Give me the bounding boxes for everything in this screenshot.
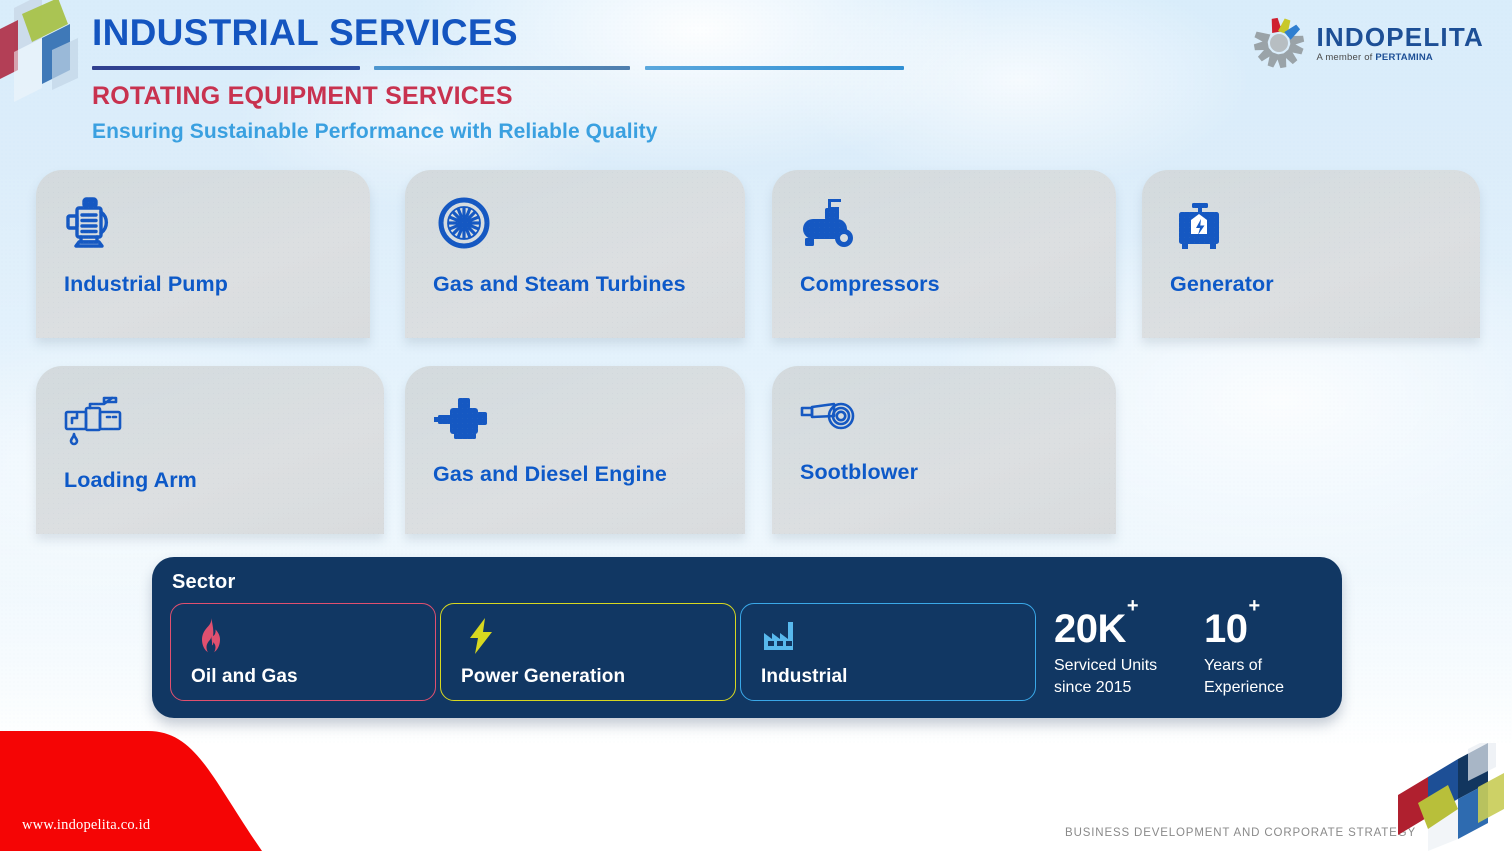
bolt-icon [461, 616, 501, 656]
stat-plus: + [1127, 595, 1138, 617]
header-rule-2 [374, 66, 630, 70]
turbine-icon [432, 194, 496, 256]
sector-item-power-generation[interactable]: Power Generation [440, 603, 736, 701]
engine-icon [432, 390, 496, 452]
stat-years-experience: 10+ Years of Experience [1204, 610, 1324, 698]
sector-item-oil-and-gas[interactable]: Oil and Gas [170, 603, 436, 701]
service-card-label: Gas and Diesel Engine [433, 462, 667, 487]
service-card-compressors[interactable]: Compressors [772, 170, 1116, 338]
service-card-label: Generator [1170, 272, 1274, 297]
factory-icon [761, 616, 801, 656]
sootblower-icon [799, 390, 863, 452]
slide-root: INDUSTRIAL SERVICES ROTATING EQUIPMENT S… [0, 0, 1512, 851]
brand-member-text: A member of PERTAMINA [1316, 53, 1484, 63]
page-title: INDUSTRIAL SERVICES [92, 14, 1092, 53]
page-tagline: Ensuring Sustainable Performance with Re… [92, 120, 658, 144]
header-rules [92, 66, 922, 72]
service-card-generator[interactable]: Generator [1142, 170, 1480, 338]
stat-caption: Years of Experience [1204, 655, 1324, 698]
service-card-loading-arm[interactable]: Loading Arm [36, 366, 384, 534]
sector-panel-title: Sector [172, 571, 235, 594]
stat-caption-line2: since 2015 [1054, 677, 1174, 699]
header-rule-1 [92, 66, 360, 70]
brand-member-prefix: A member of [1316, 52, 1375, 63]
brand-name: INDOPELITA [1316, 24, 1484, 50]
stat-caption-line1: Years of [1204, 655, 1324, 677]
stat-value: 10 [1204, 607, 1248, 651]
pump-icon [63, 194, 127, 256]
brand-member-company: PERTAMINA [1375, 52, 1433, 63]
service-card-label: Compressors [800, 272, 940, 297]
header-rule-3 [645, 66, 904, 70]
stat-number: 20K+ [1054, 610, 1137, 648]
sector-item-industrial[interactable]: Industrial [740, 603, 1036, 701]
service-card-sootblower[interactable]: Sootblower [772, 366, 1116, 534]
stat-serviced-units: 20K+ Serviced Units since 2015 [1054, 610, 1174, 698]
sector-panel: Sector Oil and Gas Power Generation [152, 557, 1342, 718]
service-card-label: Gas and Steam Turbines [433, 272, 686, 297]
generator-icon [1169, 194, 1233, 256]
stat-value: 20K [1054, 607, 1126, 651]
stat-caption-line2: Experience [1204, 677, 1324, 699]
stat-caption: Serviced Units since 2015 [1054, 655, 1174, 698]
sector-item-label: Industrial [761, 666, 848, 688]
stat-number: 10+ [1204, 610, 1259, 648]
service-card-gas-diesel-engine[interactable]: Gas and Diesel Engine [405, 366, 745, 534]
service-card-gas-steam-turbines[interactable]: Gas and Steam Turbines [405, 170, 745, 338]
flame-icon [191, 616, 231, 656]
loading-arm-icon [63, 390, 127, 452]
service-card-label: Industrial Pump [64, 272, 228, 297]
sector-item-label: Oil and Gas [191, 666, 298, 688]
service-card-label: Loading Arm [64, 468, 197, 493]
corner-geometric-mark [0, 0, 96, 106]
compressor-icon [799, 194, 863, 256]
stat-caption-line1: Serviced Units [1054, 655, 1174, 677]
page-subtitle: ROTATING EQUIPMENT SERVICES [92, 82, 513, 111]
sector-item-label: Power Generation [461, 666, 625, 688]
website-url[interactable]: www.indopelita.co.id [22, 817, 150, 834]
stat-plus: + [1249, 595, 1260, 617]
footer-geometric-mark [1384, 743, 1504, 851]
department-label: BUSINESS DEVELOPMENT AND CORPORATE STRAT… [1065, 827, 1416, 839]
indopelita-pinwheel-icon [1252, 16, 1306, 70]
service-card-label: Sootblower [800, 460, 918, 485]
header-block: INDUSTRIAL SERVICES [92, 14, 1092, 53]
brand-logo: INDOPELITA A member of PERTAMINA [1252, 16, 1484, 70]
service-card-industrial-pump[interactable]: Industrial Pump [36, 170, 370, 338]
